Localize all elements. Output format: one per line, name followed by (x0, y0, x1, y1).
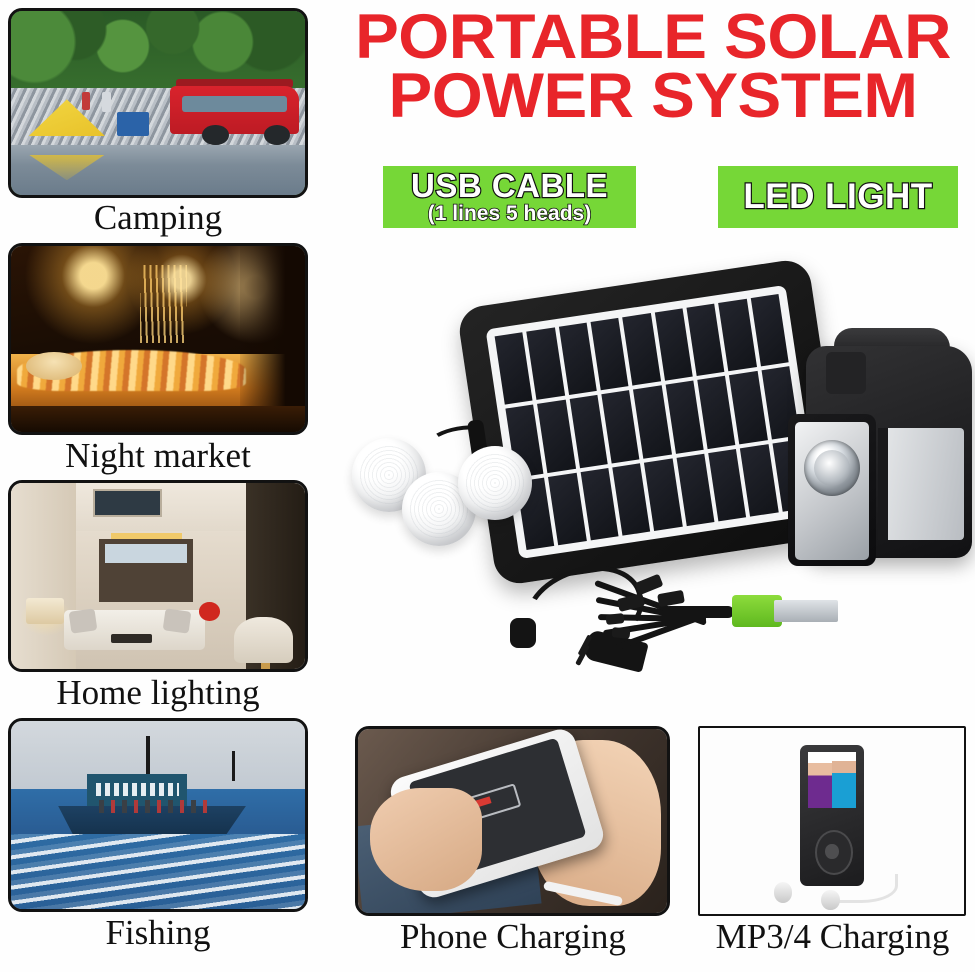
caption-phone-charging: Phone Charging (348, 917, 678, 957)
home-coffee-table (111, 634, 152, 643)
caption-home-lighting: Home lighting (2, 673, 314, 713)
caption-night-market: Night market (2, 436, 314, 476)
photo-night-market (8, 243, 308, 435)
solar-cell (676, 453, 714, 526)
solar-cell (537, 400, 575, 473)
solar-cell (527, 327, 565, 400)
solar-cell (591, 318, 629, 391)
home-cushion-right (162, 608, 191, 634)
mp3-earbud-left (774, 882, 792, 902)
headline-line-2: POWER SYSTEM (325, 67, 975, 126)
home-armchair (234, 617, 293, 664)
night-market-foreground (11, 406, 305, 432)
led-bulb (458, 446, 532, 520)
mp3-earbud-right (821, 890, 839, 910)
usb-head-5 (657, 590, 685, 607)
camping-person-1 (102, 92, 111, 112)
solar-cell (740, 444, 778, 517)
badge-usb-title: USB CABLE (411, 170, 608, 202)
home-table-lamp (26, 598, 64, 624)
home-skylight (93, 489, 162, 517)
usb-head-1 (635, 574, 664, 596)
solar-cell (654, 308, 692, 381)
led-lamp (782, 328, 972, 580)
badge-led-light: LED LIGHT (718, 166, 958, 228)
caption-mp3-charging: MP3/4 Charging (690, 917, 975, 957)
usb-connector-plug (774, 600, 838, 622)
solar-cell (718, 299, 756, 372)
page-title: PORTABLE SOLAR POWER SYSTEM (338, 8, 968, 125)
night-market-bowl (26, 352, 82, 380)
usb-cable-trunk (664, 606, 734, 618)
solar-cell (495, 332, 533, 405)
mp3-screen-person-left (808, 763, 832, 808)
caption-fishing: Fishing (8, 913, 308, 953)
solar-panel-backing (486, 285, 820, 559)
fishing-wake (11, 834, 305, 909)
camping-person-2 (82, 92, 91, 110)
fishing-cabin-windows (96, 783, 178, 796)
camping-suv-wheel-rear (202, 125, 228, 145)
photo-mp3-charging (698, 726, 966, 916)
solar-cell (633, 386, 671, 459)
badge-usb-subtitle: (1 lines 5 heads) (428, 202, 591, 225)
product-marketing-image: PORTABLE SOLAR POWER SYSTEM USB CABLE (1… (0, 0, 975, 972)
usb-head-3 (606, 613, 625, 625)
solar-cell (601, 390, 639, 463)
home-light-strip (111, 533, 182, 539)
photo-camping (8, 8, 308, 198)
product-hero (330, 250, 975, 720)
solar-cell (708, 449, 746, 522)
phone-scene-left-hand (370, 788, 481, 891)
camping-blue-chair (117, 112, 149, 136)
solar-cell (623, 313, 661, 386)
solar-cell (644, 458, 682, 531)
fishing-mast-main (146, 736, 150, 777)
home-cushion-left (68, 608, 97, 634)
solar-cell (569, 395, 607, 468)
fishing-crew (99, 800, 211, 813)
led-lamp-side-edge (878, 428, 888, 540)
night-market-right-shadow (240, 246, 305, 432)
usb-head-4 (612, 627, 631, 639)
led-lamp-side-panel (878, 428, 964, 540)
usb-cable-end-tip (510, 618, 536, 648)
photo-fishing (8, 718, 308, 912)
solar-cell (665, 381, 703, 454)
headline-line-1: PORTABLE SOLAR (325, 8, 975, 67)
solar-cell (580, 468, 618, 541)
solar-cell (559, 323, 597, 396)
solar-cell (729, 371, 767, 444)
photo-phone-charging (355, 726, 670, 916)
usb-cable (508, 562, 838, 697)
photo-home-lighting (8, 480, 308, 672)
mp3-screen-person-right (832, 761, 856, 808)
solar-panel-cell-grid (495, 294, 811, 550)
led-lamp-lens (814, 450, 850, 486)
badge-usb-cable: USB CABLE (1 lines 5 heads) (383, 166, 636, 228)
fishing-mast-stern (232, 751, 236, 781)
caption-camping: Camping (8, 198, 308, 238)
home-red-vase (199, 602, 220, 621)
led-lamp-handle-mount (826, 352, 866, 394)
solar-cell (697, 376, 735, 449)
camping-suv-windows (182, 96, 288, 113)
home-back-window (105, 544, 187, 563)
badge-led-title: LED LIGHT (743, 168, 932, 226)
solar-cell (548, 472, 586, 545)
solar-cell (686, 304, 724, 377)
mp3-center-button (825, 844, 838, 859)
solar-cell (612, 463, 650, 536)
